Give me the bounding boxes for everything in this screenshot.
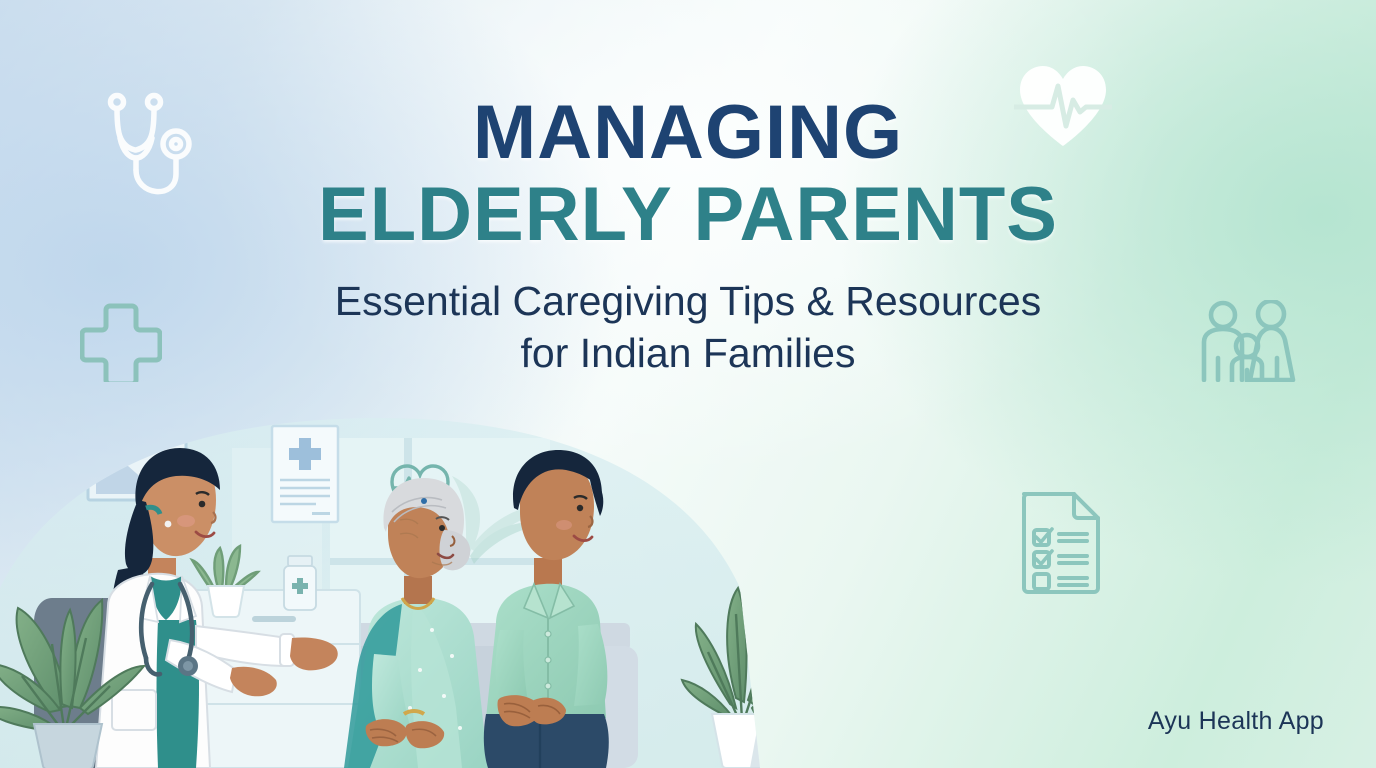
poster-title-line-1: MANAGING (0, 96, 1376, 170)
poster-title-line-2: ELDERLY PARENTS (0, 170, 1376, 260)
medicine-bottle (284, 556, 316, 610)
poster-subtitle-line-2: for Indian Families (0, 328, 1376, 380)
headline-block: MANAGING ELDERLY PARENTS Essential Careg… (0, 96, 1376, 379)
poster-subtitle: Essential Caregiving Tips & Resources fo… (0, 276, 1376, 379)
poster-subtitle-line-1: Essential Caregiving Tips & Resources (0, 276, 1376, 328)
clinic-consultation-illustration (0, 408, 800, 768)
wall-poster (272, 426, 338, 522)
checklist-document-icon (1014, 488, 1106, 599)
poster-canvas: MANAGING ELDERLY PARENTS Essential Careg… (0, 0, 1376, 768)
brand-label: Ayu Health App (1148, 707, 1324, 736)
